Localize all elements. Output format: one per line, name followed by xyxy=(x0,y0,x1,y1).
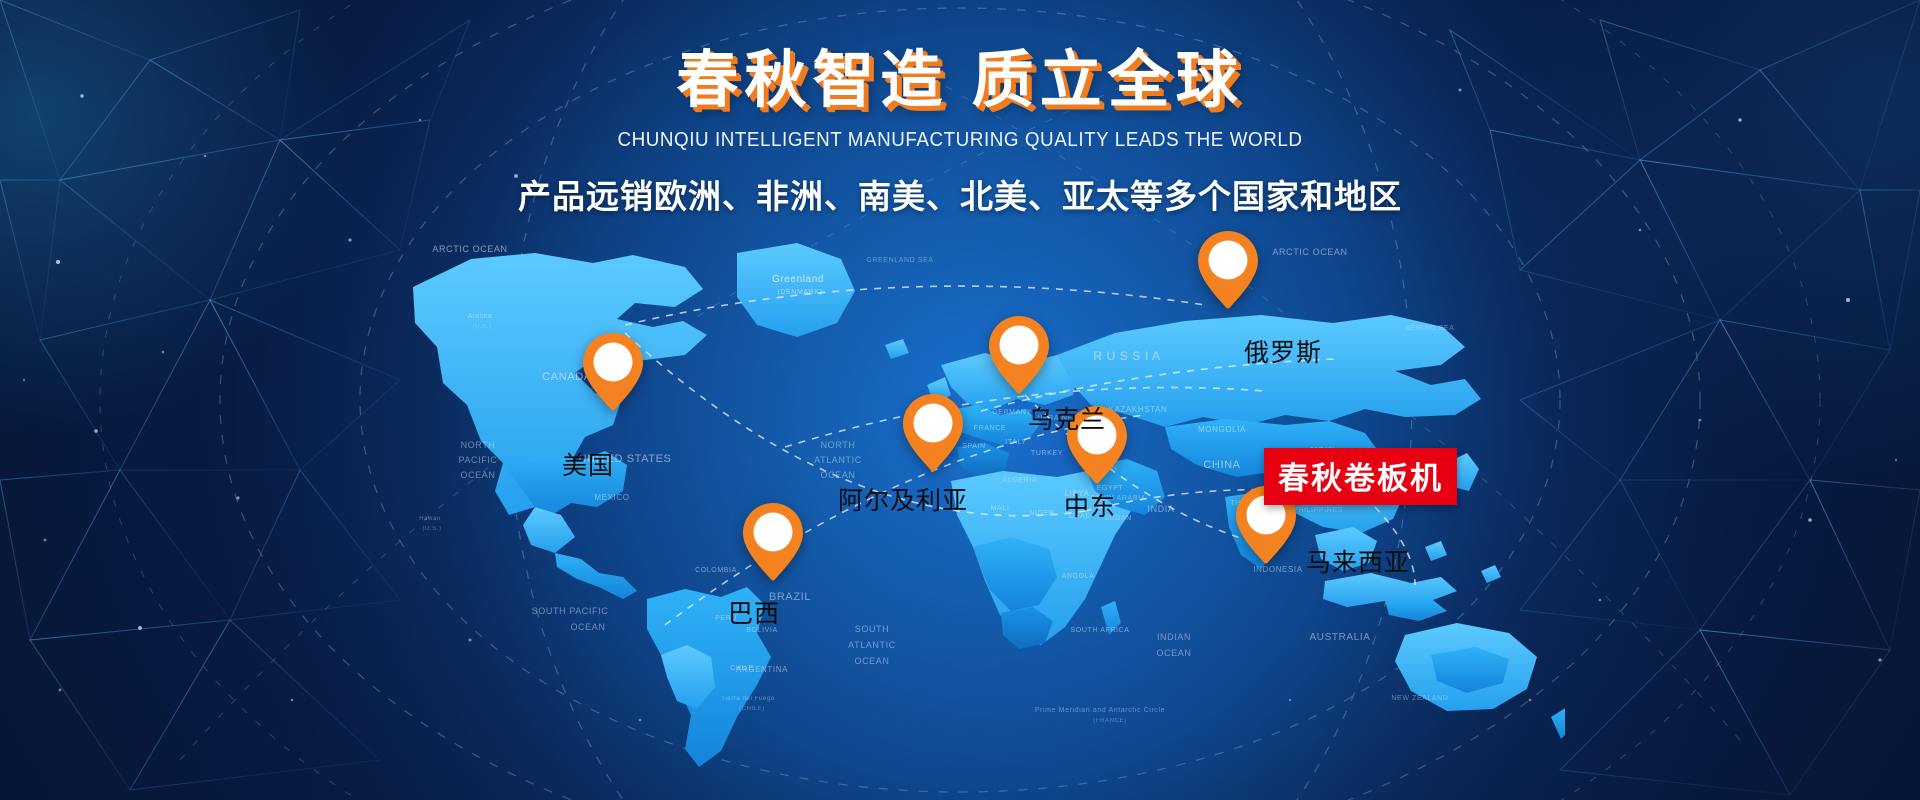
map-marker-label-malaysia: 马来西亚 xyxy=(1306,543,1410,579)
map-label: NIGER xyxy=(1029,510,1054,517)
map-label: MEXICO xyxy=(594,493,629,502)
map-marker-russia[interactable] xyxy=(1197,230,1259,310)
map-marker-label-brazil: 巴西 xyxy=(728,594,780,630)
map-label: FRANCE xyxy=(974,425,1006,432)
map-label: MALI xyxy=(991,505,1010,512)
map-label: (U.S.) xyxy=(472,324,491,330)
map-label: SOUTH AFRICA xyxy=(1071,627,1130,634)
map-label: CHINA xyxy=(1203,459,1240,471)
map-label: INDONESIA xyxy=(1253,565,1302,574)
map-label: ATLANTIC xyxy=(848,640,896,650)
map-label: GREENLAND SEA xyxy=(866,257,933,264)
map-label: OCEAN xyxy=(460,470,495,480)
map-label: Tierra del Fuego xyxy=(721,696,774,702)
map-label: (FRANCE) xyxy=(1093,718,1126,724)
map-marker-brazil[interactable] xyxy=(742,502,804,582)
map-label: CHILE xyxy=(730,665,754,672)
map-marker-label-russia: 俄罗斯 xyxy=(1244,333,1322,369)
page-title: 春秋智造 质立全球 xyxy=(0,48,1920,115)
map-label: Prime Meridian and Antarctic Circle xyxy=(1035,707,1165,714)
map-label: MONGOLIA xyxy=(1198,425,1246,434)
location-pin-icon xyxy=(902,393,964,473)
map-label: (U.S.) xyxy=(422,526,441,532)
map-label: NEW ZEALAND xyxy=(1391,695,1448,702)
map-label: PACIFIC xyxy=(458,455,497,465)
map-marker-usa[interactable] xyxy=(582,332,644,412)
map-label: NORTH xyxy=(821,440,856,450)
map-label: OCEAN xyxy=(820,470,855,480)
map-label: OCEAN xyxy=(854,656,889,666)
map-label: ALGERIA xyxy=(1003,477,1038,484)
map-label: Greenland xyxy=(772,274,824,285)
page-subtitle: 产品远销欧洲、非洲、南美、北美、亚太等多个国家和地区 xyxy=(0,170,1920,218)
map-label: ANGOLA xyxy=(1062,573,1095,580)
map-label: Hawaii xyxy=(419,516,441,522)
banner-header: 春秋智造 质立全球 CHUNQIU INTELLIGENT MANUFACTUR… xyxy=(0,0,1920,218)
map-label: AUSTRALIA xyxy=(1310,632,1371,643)
map-label: PHILIPPINES xyxy=(1293,507,1343,514)
world-map-banner: 春秋智造 质立全球 CHUNQIU INTELLIGENT MANUFACTUR… xyxy=(0,0,1920,800)
map-label: SOUTH PACIFIC xyxy=(532,606,609,616)
map-marker-label-ukraine: 乌克兰 xyxy=(1028,400,1106,436)
product-badge[interactable]: 春秋卷板机 xyxy=(1264,448,1457,505)
map-label: ITALY xyxy=(1005,439,1026,446)
location-pin-icon xyxy=(988,315,1050,395)
map-marker-algeria[interactable] xyxy=(902,393,964,473)
map-marker-label-algeria: 阿尔及利亚 xyxy=(838,481,968,517)
map-label: ARCTIC OCEAN xyxy=(1272,247,1347,257)
map-label: SOUTH xyxy=(855,624,890,634)
map-label: ARCTIC OCEAN xyxy=(432,244,507,254)
map-label: OCEAN xyxy=(570,622,605,632)
map-marker-label-usa: 美国 xyxy=(562,446,614,482)
location-pin-icon xyxy=(742,502,804,582)
map-label: Alaska xyxy=(468,313,493,320)
map-label: (DENMARK) xyxy=(777,289,822,296)
map-label: COLOMBIA xyxy=(695,567,737,574)
map-label: INDIAN xyxy=(1157,632,1191,642)
map-label: OCEAN xyxy=(1156,648,1191,658)
map-label: GERMANY xyxy=(992,409,1032,416)
map-marker-ukraine[interactable] xyxy=(988,315,1050,395)
map-label: R U S S I A xyxy=(1093,349,1160,363)
map-marker-label-mideast: 中东 xyxy=(1064,487,1116,523)
map-label: BERING SEA xyxy=(1406,325,1455,332)
page-title-english: CHUNQIU INTELLIGENT MANUFACTURING QUALIT… xyxy=(58,129,1863,152)
map-label: TURKEY xyxy=(1031,450,1063,457)
map-label: NORTH xyxy=(461,440,496,450)
map-label: SPAIN xyxy=(962,443,986,450)
map-label: (CHILE) xyxy=(739,706,765,712)
location-pin-icon xyxy=(582,332,644,412)
map-label: INDIA xyxy=(1147,504,1174,514)
location-pin-icon xyxy=(1197,230,1259,310)
map-label: ATLANTIC xyxy=(814,455,862,465)
